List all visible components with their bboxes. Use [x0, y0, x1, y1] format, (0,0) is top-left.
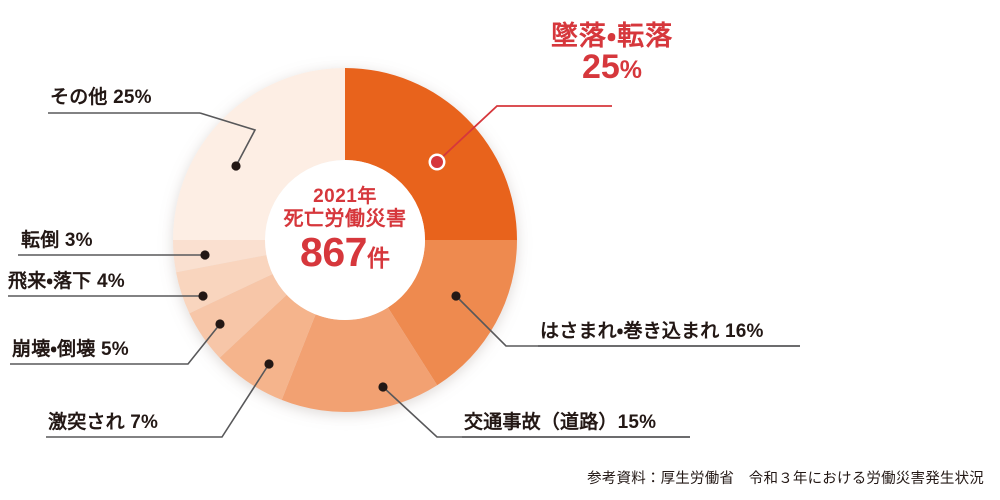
- callout-label-koutsuu: 交通事故（道路）15%: [464, 413, 656, 432]
- center-count: 867件: [250, 232, 440, 273]
- source-note: 参考資料：厚生労働省 令和３年における労働災害発生状況: [587, 467, 984, 488]
- highlight-label-value: 25%: [487, 50, 737, 86]
- leader-dot-koutsuu: [378, 382, 387, 391]
- center-subject: 死亡労働災害: [250, 208, 440, 231]
- highlight-label-name: 墜落・転落: [487, 22, 737, 50]
- leader-dot-hasamare: [451, 291, 460, 300]
- highlight-label: 墜落・転落 25%: [487, 22, 737, 86]
- callout-label-hasamare: はさまれ・巻き込まれ 16%: [540, 322, 764, 341]
- callout-label-sonota: その他 25%: [50, 88, 152, 107]
- callout-label-houkai: 崩壊・倒壊 5%: [12, 340, 129, 359]
- center-year: 2021年: [250, 186, 440, 208]
- callout-label-hirai: 飛来・落下 4%: [8, 272, 125, 291]
- leader-dot-tento: [200, 250, 209, 259]
- leader-dot-gekitotsu: [264, 359, 273, 368]
- leader-dot-hirai: [198, 291, 207, 300]
- donut-center-label: 2021年 死亡労働災害 867件: [250, 186, 440, 273]
- leader-dot-houkai: [215, 319, 224, 328]
- leader-dot-tsuiraku: [431, 156, 443, 168]
- leader-dot-sonota: [231, 161, 240, 170]
- callout-label-gekitotsu: 激突され 7%: [48, 413, 158, 432]
- callout-label-tento: 転倒 3%: [21, 231, 93, 250]
- chart-canvas: 墜落・転落 25% 2021年 死亡労働災害 867件 その他 25% 転倒 3…: [0, 0, 1000, 500]
